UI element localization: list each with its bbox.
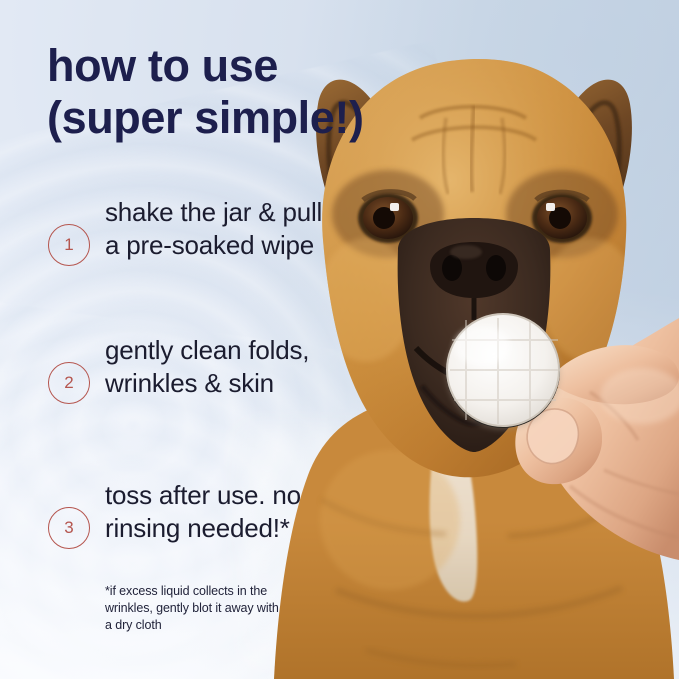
step-text-1: shake the jar & pull a pre-soaked wipe xyxy=(105,196,335,263)
step-number-badge-1: 1 xyxy=(48,224,90,266)
step-text-3: toss after use. no rinsing needed!* xyxy=(105,479,335,546)
promo-image-canvas: how to use (super simple!) 1 shake the j… xyxy=(0,0,679,679)
page-title-line-1: how to use xyxy=(47,40,278,91)
step-number-badge-2: 2 xyxy=(48,362,90,404)
footnote-text: *if excess liquid collects in the wrinkl… xyxy=(105,583,280,634)
step-text-2: gently clean folds, wrinkles & skin xyxy=(105,334,335,401)
page-title: how to use (super simple!) xyxy=(47,40,517,144)
step-number-badge-3: 3 xyxy=(48,507,90,549)
page-title-line-2: (super simple!) xyxy=(47,92,517,144)
